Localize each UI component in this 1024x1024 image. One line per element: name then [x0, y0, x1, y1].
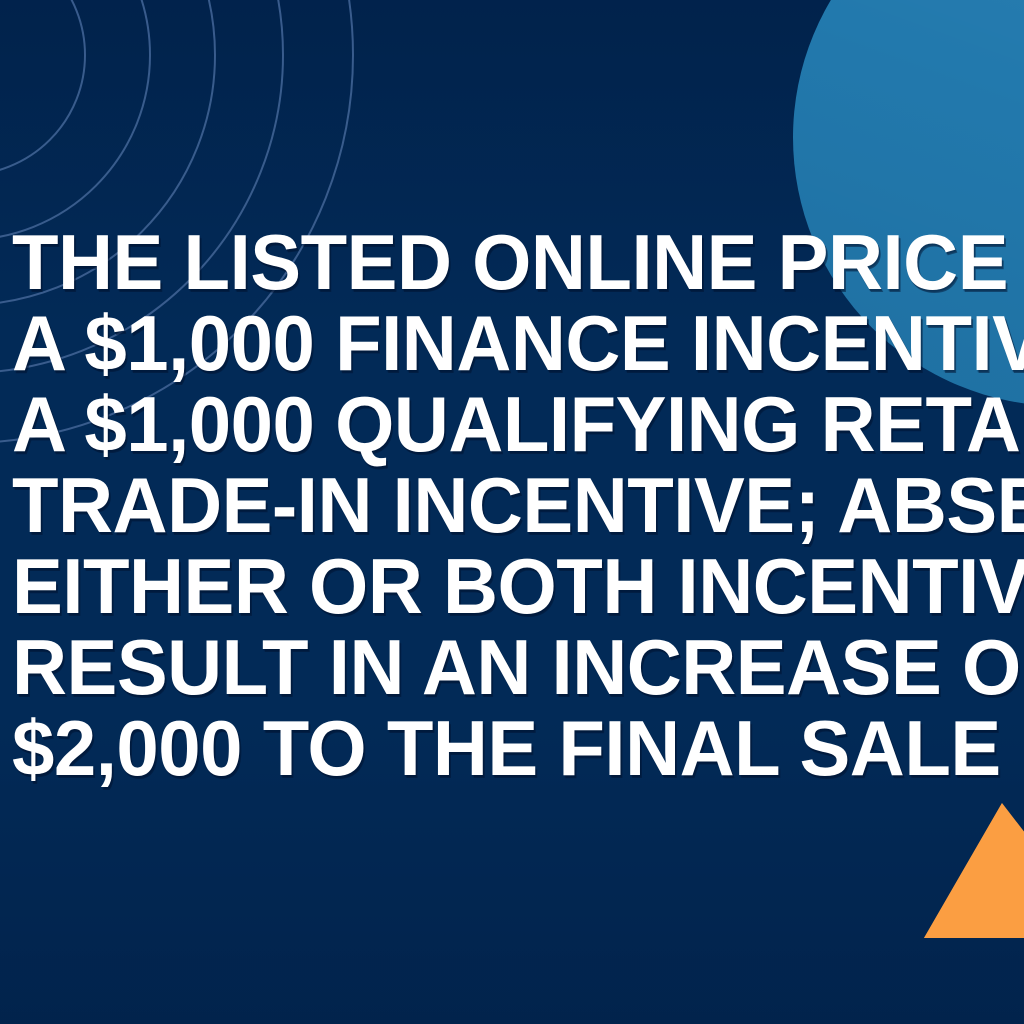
- disclaimer-graphic-canvas: THE LISTED ONLINE PRICE REFLECTS A $1,00…: [0, 0, 1024, 1024]
- disclaimer-line-2: A $1,000 FINANCE INCENTIVE AND: [12, 303, 1012, 384]
- disclaimer-text-block: THE LISTED ONLINE PRICE REFLECTS A $1,00…: [0, 222, 1024, 789]
- disclaimer-line-3: A $1,000 QUALIFYING RETAIL: [12, 384, 1012, 465]
- disclaimer-line-4: TRADE-IN INCENTIVE; ABSENCE OF: [12, 465, 1012, 546]
- orange-triangle-icon: [916, 800, 1024, 940]
- disclaimer-line-5: EITHER OR BOTH INCENTIVES WILL: [12, 546, 1012, 627]
- disclaimer-line-7: $2,000 TO THE FINAL SALE PRICE.: [12, 708, 1012, 789]
- disclaimer-line-6: RESULT IN AN INCREASE OF UP TO: [12, 627, 1012, 708]
- disclaimer-line-1: THE LISTED ONLINE PRICE REFLECTS: [12, 222, 1012, 303]
